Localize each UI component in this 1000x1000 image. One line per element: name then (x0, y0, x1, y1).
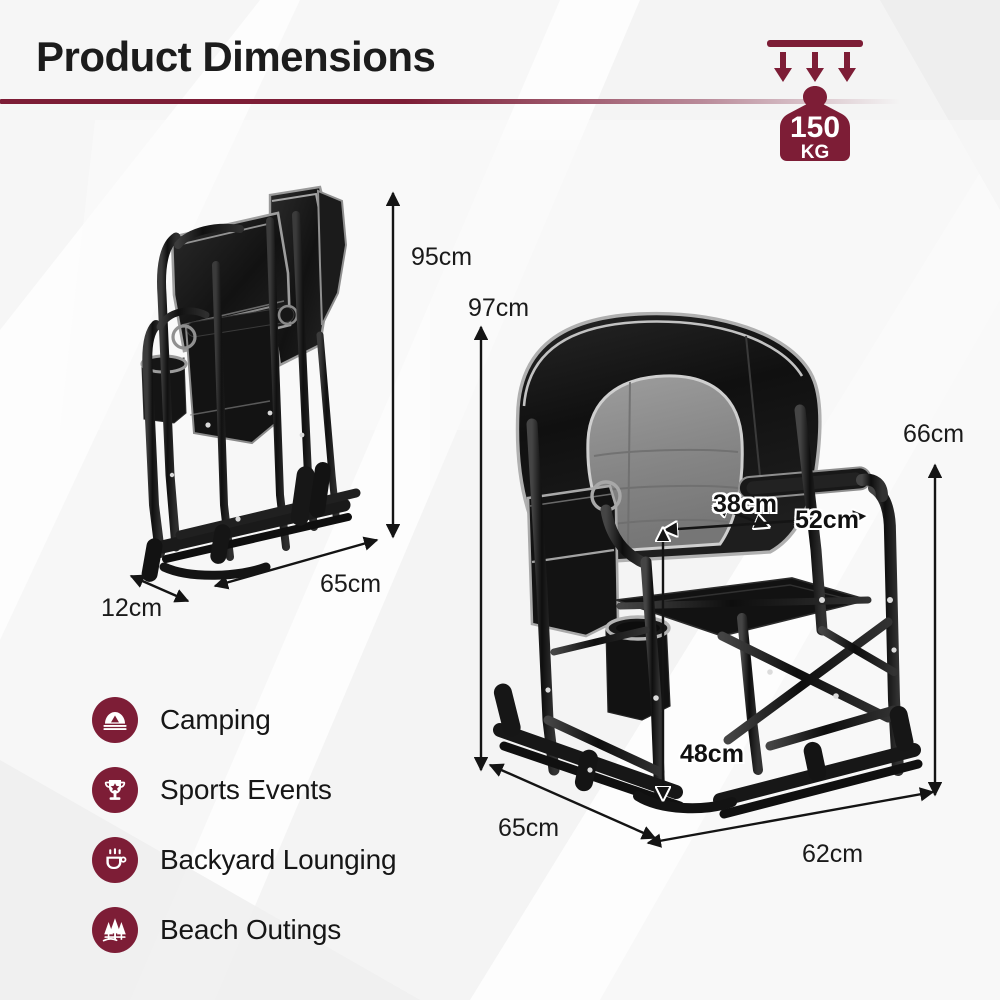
feature-item-sports-events: Sports Events (92, 755, 396, 825)
feature-item-beach-outings: Beach Outings (92, 895, 396, 965)
dim-label-open-arm-height: 66cm (903, 420, 964, 449)
tent-icon (92, 697, 138, 743)
open-chair-image (470, 300, 950, 860)
feature-label: Sports Events (160, 774, 332, 806)
dim-label-open-total-height: 97cm (468, 294, 529, 323)
dim-label-open-seat-depth: 38cm (713, 490, 777, 519)
coffee-cup-icon (92, 837, 138, 883)
feature-list: Camping Sports Events (92, 685, 396, 965)
weight-capacity-badge: 150 KG (755, 36, 875, 166)
feature-item-camping: Camping (92, 685, 396, 755)
feature-label: Beach Outings (160, 914, 341, 946)
dim-label-open-seat-height: 48cm (680, 740, 744, 769)
dim-label-open-seat-width: 52cm (795, 506, 859, 535)
dim-label-folded-width: 65cm (320, 570, 381, 599)
feature-label: Camping (160, 704, 271, 736)
dim-label-folded-height: 95cm (411, 243, 472, 272)
folded-chair-image (120, 175, 420, 595)
weight-load-icon: 150 KG (755, 36, 875, 166)
dim-label-open-base-width: 62cm (802, 840, 863, 869)
pine-trees-icon (92, 907, 138, 953)
feature-label: Backyard Lounging (160, 844, 396, 876)
dim-label-open-base-depth: 65cm (498, 814, 559, 843)
feature-item-backyard-lounging: Backyard Lounging (92, 825, 396, 895)
capacity-value: 150 (790, 111, 840, 144)
capacity-unit: KG (801, 142, 830, 163)
trophy-icon (92, 767, 138, 813)
infographic-canvas: Product Dimensions 150 KG (0, 0, 1000, 1000)
page-title: Product Dimensions (36, 33, 435, 81)
dim-label-folded-depth: 12cm (101, 594, 162, 623)
